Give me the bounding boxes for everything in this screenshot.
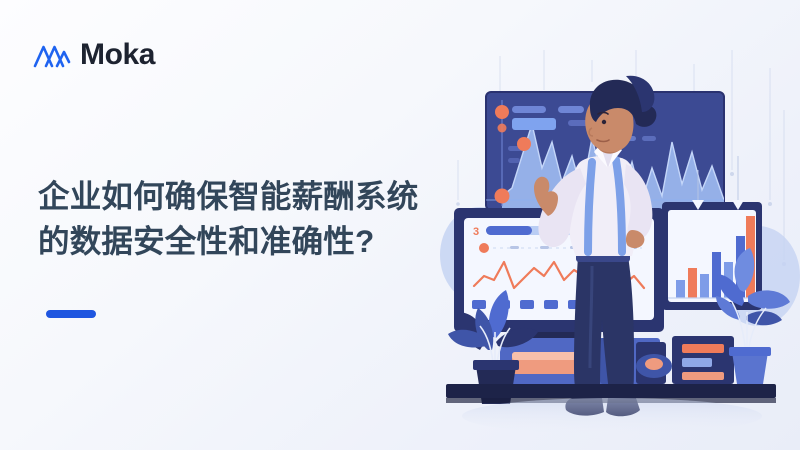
promo-banner: Moka 企业如何确保智能薪酬系统 的数据安全性和准确性? <box>0 0 800 450</box>
brand-logo[interactable]: Moka <box>33 40 155 70</box>
hero-illustration: 3 <box>440 50 800 450</box>
decorative-underline <box>46 310 96 318</box>
page-title: 企业如何确保智能薪酬系统 的数据安全性和准确性? <box>38 174 508 263</box>
floor-shadow <box>462 398 762 434</box>
person-suspender-left <box>588 162 592 252</box>
svg-text:3: 3 <box>473 226 479 238</box>
moka-mountain-mark-icon <box>33 41 71 69</box>
shelf <box>446 384 776 398</box>
brand-name: Moka <box>80 40 155 70</box>
